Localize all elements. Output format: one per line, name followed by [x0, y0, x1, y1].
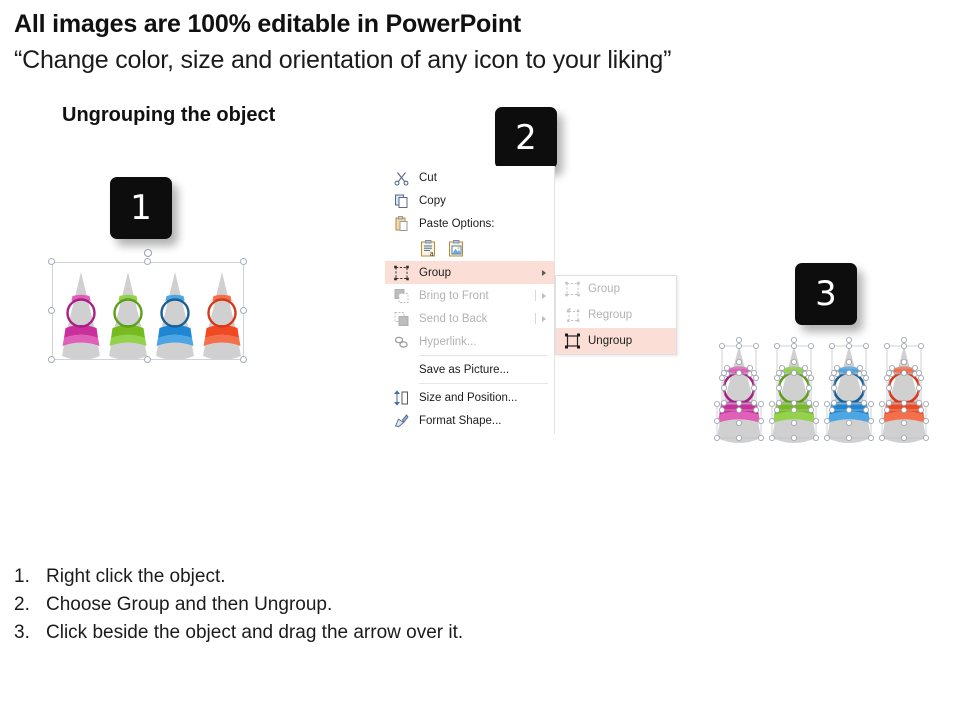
hyperlink-icon: [393, 333, 410, 350]
regroup-icon: [564, 307, 581, 324]
menu-divider: [419, 383, 548, 384]
menu-label: Send to Back: [419, 313, 487, 325]
menu-label: Ungroup: [588, 335, 632, 347]
resize-handle-se[interactable]: [240, 356, 247, 363]
paste-picture-icon[interactable]: [447, 239, 466, 258]
cone-ungrouped-illustration: [700, 330, 935, 465]
menu-label: Cut: [419, 172, 437, 184]
step-text: Choose Group and then Ungroup.: [46, 594, 332, 616]
menu-item-send-to-back[interactable]: Send to Back: [385, 307, 554, 330]
menu-label: Format Shape...: [419, 415, 501, 427]
menu-label: Paste Options:: [419, 218, 494, 230]
page-title: All images are 100% editable in PowerPoi…: [14, 10, 521, 39]
chevron-right-icon: [542, 316, 546, 322]
menu-label: Bring to Front: [419, 290, 489, 302]
menu-label: Regroup: [588, 309, 632, 321]
menu-item-group[interactable]: Group: [385, 261, 554, 284]
menu-item-save-as-picture[interactable]: Save as Picture...: [385, 358, 554, 381]
rotate-handle[interactable]: [144, 249, 152, 257]
resize-handle-s[interactable]: [144, 356, 151, 363]
menu-label: Group: [419, 267, 451, 279]
instruction-steps: 1. Right click the object. 2. Choose Gro…: [14, 566, 654, 650]
menu-item-format-shape[interactable]: Format Shape...: [385, 409, 554, 432]
step-text: Right click the object.: [46, 566, 226, 588]
submenu-item-group[interactable]: Group: [556, 276, 676, 302]
paste-keep-text-only-icon[interactable]: a: [419, 239, 438, 258]
submenu-item-regroup[interactable]: Regroup: [556, 302, 676, 328]
step-badge-3: 3: [795, 263, 857, 325]
paste-options-row[interactable]: a: [385, 235, 554, 261]
menu-item-paste-options[interactable]: Paste Options:: [385, 212, 554, 235]
selection-frame: [52, 262, 244, 360]
scissors-icon: [393, 169, 410, 186]
resize-handle-nw[interactable]: [48, 258, 55, 265]
step-text: Click beside the object and drag the arr…: [46, 622, 463, 644]
step-badge-1: 1: [110, 177, 172, 239]
step-item: 3. Click beside the object and drag the …: [14, 622, 654, 644]
menu-item-bring-to-front[interactable]: Bring to Front: [385, 284, 554, 307]
copy-icon: [393, 192, 410, 209]
context-menu[interactable]: Cut Copy Paste Options:: [385, 166, 555, 434]
resize-handle-n[interactable]: [144, 258, 151, 265]
submenu-divider: [535, 290, 536, 301]
submenu-item-ungroup[interactable]: Ungroup: [556, 328, 676, 354]
menu-item-size-and-position[interactable]: Size and Position...: [385, 386, 554, 409]
menu-label: Save as Picture...: [419, 364, 509, 376]
menu-item-copy[interactable]: Copy: [385, 189, 554, 212]
send-to-back-icon: [393, 310, 410, 327]
section-heading: Ungrouping the object: [62, 104, 275, 127]
group-icon: [564, 281, 581, 298]
chevron-right-icon: [542, 270, 546, 276]
menu-label: Hyperlink...: [419, 336, 477, 348]
ungrouped-selection[interactable]: [700, 330, 935, 465]
group-icon: [393, 264, 410, 281]
submenu-divider: [535, 313, 536, 324]
step-badge-2: 2: [495, 107, 557, 169]
step-number: 1.: [14, 566, 46, 588]
grouped-selection[interactable]: [52, 262, 244, 360]
menu-divider: [419, 355, 548, 356]
menu-label: Copy: [419, 195, 446, 207]
step-item: 2. Choose Group and then Ungroup.: [14, 594, 654, 616]
format-shape-icon: [393, 412, 410, 429]
svg-text:a: a: [430, 250, 434, 258]
bring-to-front-icon: [393, 287, 410, 304]
chevron-right-icon: [542, 293, 546, 299]
menu-label: Size and Position...: [419, 392, 517, 404]
menu-item-cut[interactable]: Cut: [385, 166, 554, 189]
resize-handle-w[interactable]: [48, 307, 55, 314]
resize-handle-sw[interactable]: [48, 356, 55, 363]
page-subtitle: “Change color, size and orientation of a…: [14, 46, 671, 75]
resize-handle-ne[interactable]: [240, 258, 247, 265]
size-position-icon: [393, 389, 410, 406]
menu-label: Group: [588, 283, 620, 295]
ungroup-icon: [564, 333, 581, 350]
group-submenu[interactable]: Group Regroup: [555, 275, 677, 355]
step-number: 3.: [14, 622, 46, 644]
step-item: 1. Right click the object.: [14, 566, 654, 588]
clipboard-icon: [393, 215, 410, 232]
menu-item-hyperlink[interactable]: Hyperlink...: [385, 330, 554, 353]
resize-handle-e[interactable]: [240, 307, 247, 314]
step-number: 2.: [14, 594, 46, 616]
